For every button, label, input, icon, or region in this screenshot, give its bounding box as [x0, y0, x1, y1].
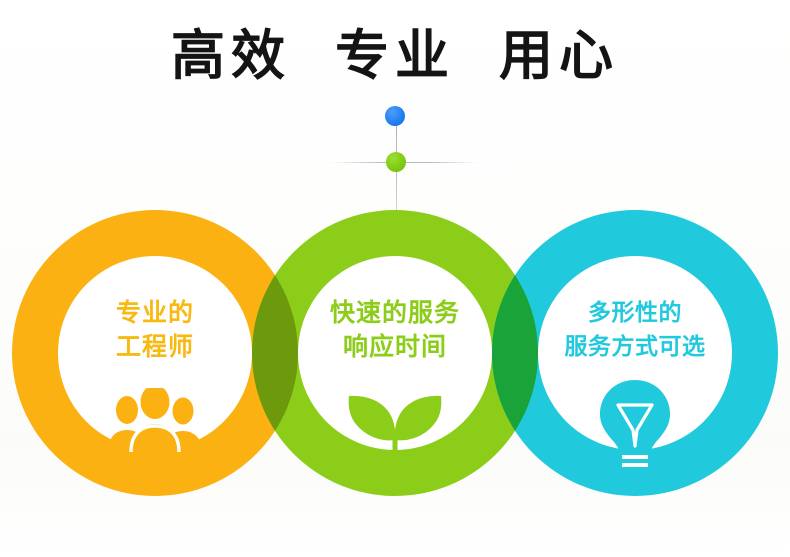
card-label-engineers-line1: 专业的	[116, 298, 194, 327]
lightbulb-icon	[492, 378, 778, 472]
card-label-service-options-line1: 多形性的	[588, 300, 682, 326]
card-label-service-options: 多形性的 服务方式可选	[492, 296, 778, 364]
card-label-response-time-line1: 快速的服务	[330, 298, 460, 327]
venn-rings	[0, 0, 790, 557]
poster-canvas: 高效专业用心 专业的 工程师 快速的服务 响应时间 多形性的 服务	[0, 0, 790, 557]
card-label-service-options-line2: 服务方式可选	[492, 330, 778, 364]
